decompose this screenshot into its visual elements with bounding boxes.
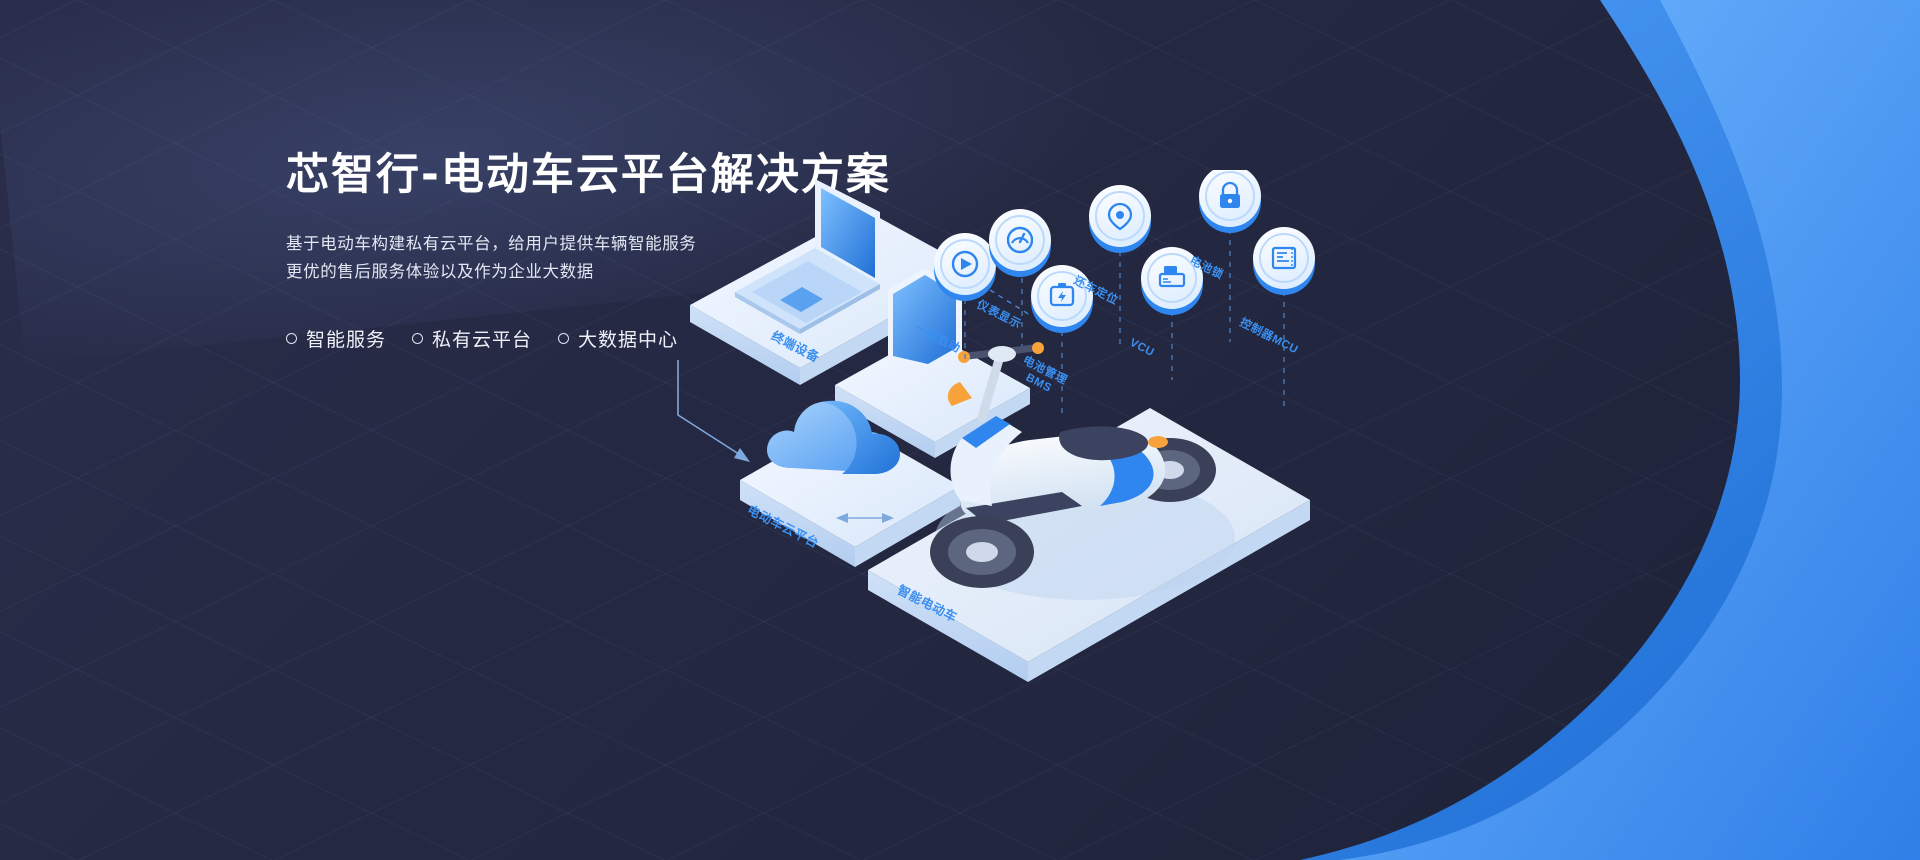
badge-controller-mcu[interactable] xyxy=(1253,227,1315,295)
bullet-circle-icon xyxy=(286,333,297,344)
badge-one-key-start[interactable] xyxy=(934,233,996,301)
hero-banner: 芯智行-电动车云平台解决方案 基于电动车构建私有云平台，给用户提供车辆智能服务 … xyxy=(0,0,1920,860)
isometric-illustration: 一键启动 仪表显示 电池管理 BMS 还车定位 VCU 电池锁 控制器MCU 终… xyxy=(630,170,1920,860)
bullet-circle-icon xyxy=(412,333,423,344)
flow-arrow-terminal-cloud xyxy=(678,360,750,462)
badge-battery-lock[interactable] xyxy=(1199,170,1261,233)
badge-bms[interactable] xyxy=(1031,265,1093,333)
feature-item-1: 私有云平台 xyxy=(412,325,532,352)
feature-item-0: 智能服务 xyxy=(286,325,386,352)
bullet-circle-icon xyxy=(558,333,569,344)
feature-label: 智能服务 xyxy=(306,325,386,352)
badge-return-locate[interactable] xyxy=(1089,185,1151,253)
badge-dashboard[interactable] xyxy=(989,209,1051,277)
feature-label: 私有云平台 xyxy=(432,325,532,352)
